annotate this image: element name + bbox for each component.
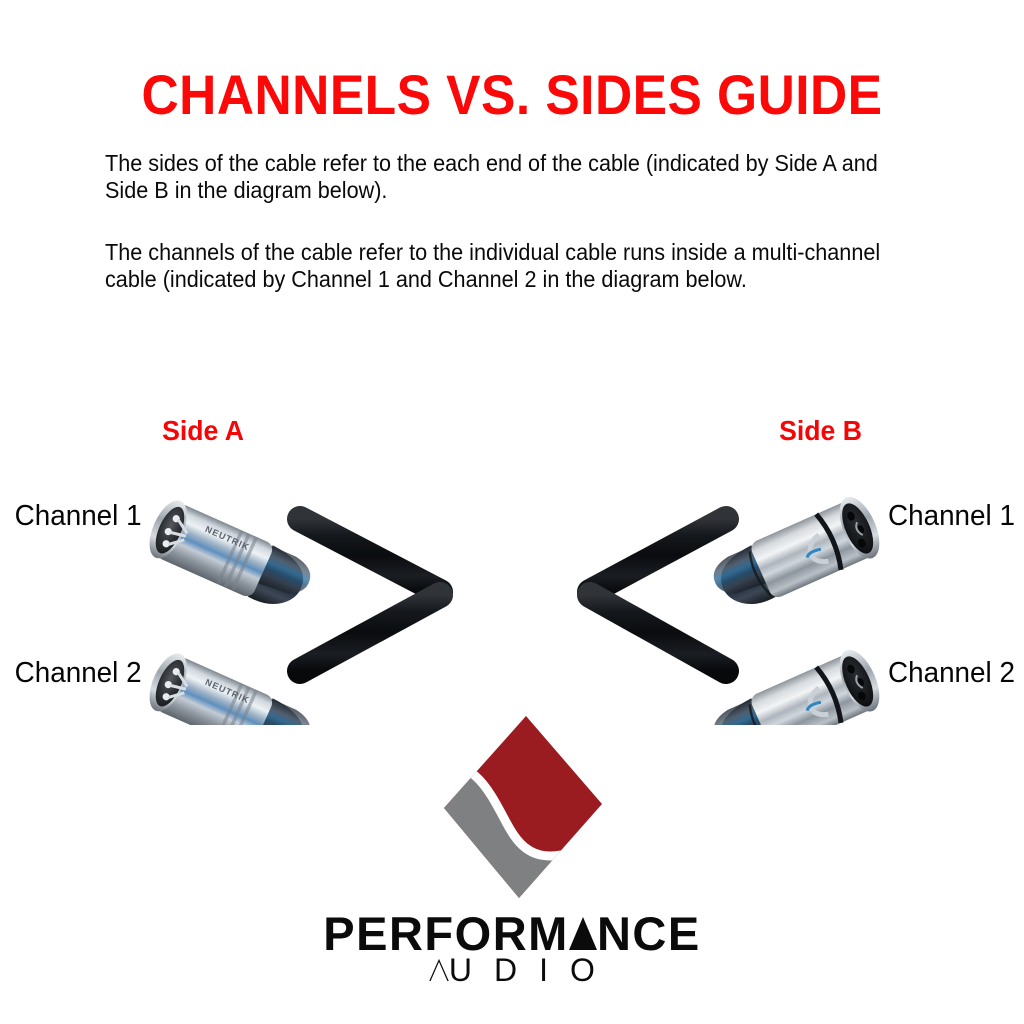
cable-side-b-channel-1 bbox=[590, 519, 726, 592]
triangle-a-icon bbox=[569, 917, 597, 951]
cable-side-a-channel-2 bbox=[300, 595, 440, 671]
triangle-a-thin-icon bbox=[429, 959, 449, 981]
page-title: CHANNELS VS. SIDES GUIDE bbox=[41, 62, 983, 127]
cable-side-b-channel-2 bbox=[590, 595, 726, 671]
cable-runs bbox=[300, 519, 726, 671]
logo-wordmark-audio: UDIO bbox=[0, 952, 1024, 989]
performance-audio-logo-mark bbox=[440, 712, 605, 902]
side-b-label: Side B bbox=[779, 415, 862, 447]
intro-paragraph-channels: The channels of the cable refer to the i… bbox=[105, 239, 899, 293]
connector-side-b-channel-2 bbox=[705, 644, 887, 725]
cable-side-a-channel-1 bbox=[300, 519, 440, 592]
cable-diagram: NEUTRIK NEUTRIK bbox=[0, 455, 1024, 725]
page-root: CHANNELS VS. SIDES GUIDE The sides of th… bbox=[0, 0, 1024, 1024]
intro-paragraph-sides: The sides of the cable refer to the each… bbox=[105, 150, 899, 204]
wordmark-audio-rest: UDIO bbox=[449, 952, 617, 988]
connector-side-a-channel-2: NEUTRIK bbox=[142, 648, 318, 725]
side-a-label: Side A bbox=[162, 415, 244, 447]
